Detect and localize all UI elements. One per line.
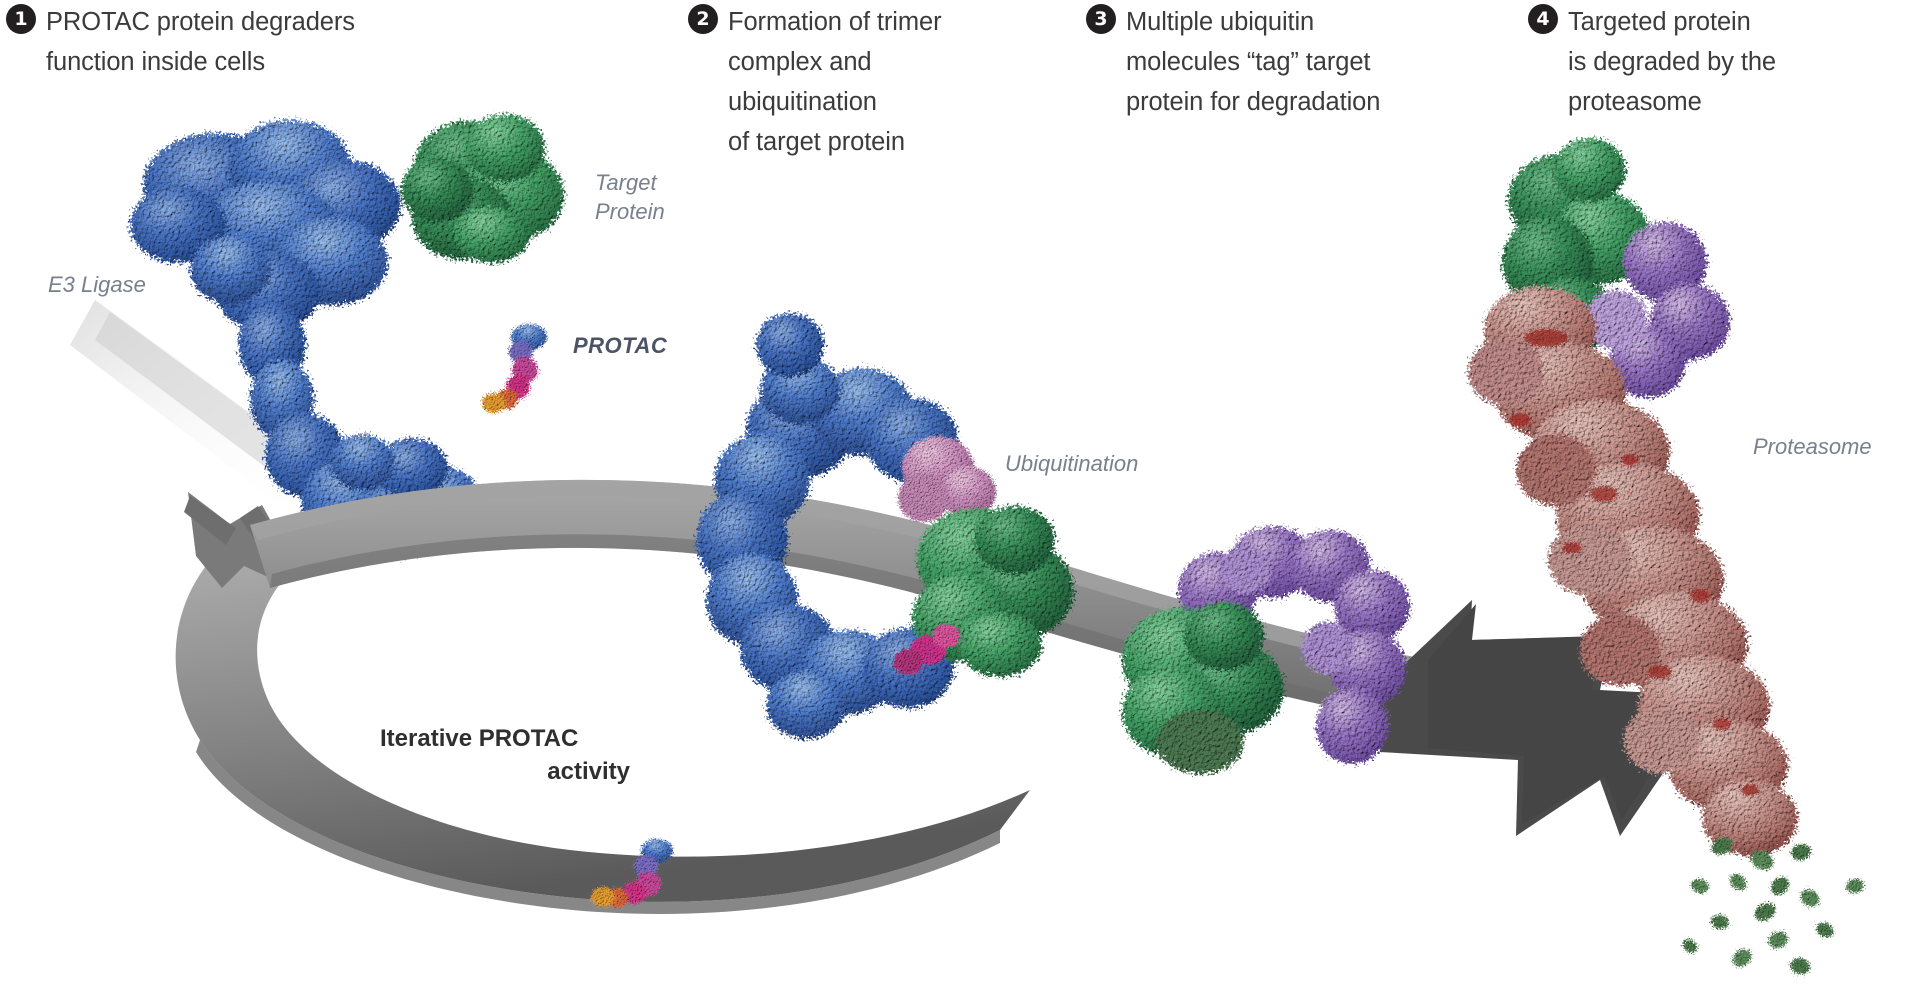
target-protein-green: [401, 114, 564, 263]
protac-molecule-step1: [482, 324, 547, 413]
iterative-protac-activity-caption: Iterative PROTAC activity: [380, 722, 630, 788]
protac-mechanism-figure: 1 PROTAC protein degraders function insi…: [0, 0, 1919, 994]
iterative-caption-line-1: Iterative PROTAC: [380, 722, 630, 755]
degraded-peptide-fragments: [1680, 834, 1865, 976]
iterative-caption-line-2: activity: [380, 755, 630, 788]
ubiquitinated-target-protein-green: [1122, 602, 1284, 774]
diagram-artwork: [0, 0, 1919, 994]
